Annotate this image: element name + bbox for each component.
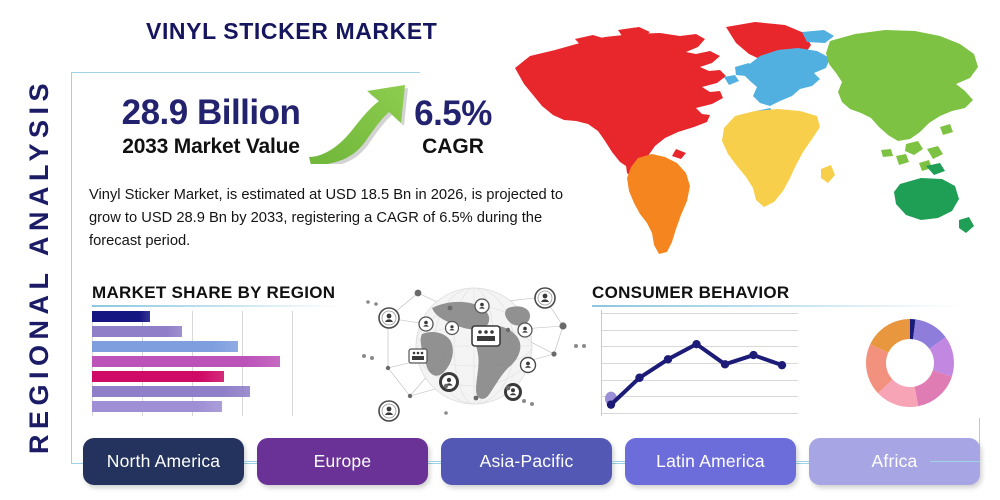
bar-fill: [92, 326, 182, 337]
consumer-behavior-heading: CONSUMER BEHAVIOR: [592, 283, 789, 303]
map-region-oceania: [894, 163, 974, 233]
chip-connector: [244, 461, 257, 462]
region-chip-label: Europe: [314, 451, 372, 472]
bar-chart-bar: [92, 386, 250, 397]
global-network-graphic: [358, 268, 590, 426]
bar-fill: [92, 371, 224, 382]
region-chip-row: North AmericaEuropeAsia-PacificLatin Ame…: [83, 438, 980, 485]
kpi-cagr-number: 6.5%: [398, 96, 508, 133]
bar-chart-bar: [92, 326, 182, 337]
map-region-asia: [826, 30, 978, 171]
consumer-behavior-heading-rule: [592, 305, 960, 307]
region-chip-label: Africa: [872, 451, 918, 472]
consumer-behavior-line-chart: [601, 310, 798, 416]
region-chip-label: Asia-Pacific: [480, 451, 574, 472]
chip-connector-tail: [930, 461, 980, 462]
page-title: VINYL STICKER MARKET: [146, 18, 437, 45]
chip-connector: [428, 461, 441, 462]
region-chip-north-america[interactable]: North America: [83, 438, 244, 485]
vertical-section-label: REGIONAL ANALYSIS: [17, 56, 61, 476]
bar-chart-bar: [92, 401, 222, 412]
kpi-cagr-caption: CAGR: [398, 135, 508, 159]
line-data-point: [635, 374, 643, 382]
market-share-heading-rule: [92, 305, 340, 307]
chip-connector: [796, 461, 809, 462]
bar-fill: [92, 401, 222, 412]
market-summary-text: Vinyl Sticker Market, is estimated at US…: [89, 184, 589, 253]
region-chip-label: Latin America: [656, 451, 765, 472]
bar-fill: [92, 356, 280, 367]
bar-gridline: [292, 311, 293, 416]
chip-connector: [612, 461, 625, 462]
bar-fill: [92, 311, 150, 322]
kpi-market-value: 28.9 Billion 2033 Market Value: [96, 95, 326, 159]
region-chip-asia-pacific[interactable]: Asia-Pacific: [441, 438, 612, 485]
market-share-bar-chart: [92, 311, 292, 416]
bar-chart-bar: [92, 356, 280, 367]
market-share-heading: MARKET SHARE BY REGION: [92, 283, 335, 303]
bar-fill: [92, 341, 238, 352]
bar-chart-bar: [92, 371, 224, 382]
bar-chart-bar: [92, 311, 150, 322]
map-region-africa: [722, 109, 835, 207]
line-data-point: [749, 351, 757, 359]
map-region-south-america: [627, 154, 690, 254]
kpi-value-number: 28.9 Billion: [96, 95, 326, 132]
region-chip-europe[interactable]: Europe: [257, 438, 428, 485]
line-data-point: [778, 361, 786, 369]
region-chip-latin-america[interactable]: Latin America: [625, 438, 796, 485]
infographic-root: REGIONAL ANALYSIS VINYL STICKER MARKET: [0, 0, 1000, 500]
bar-fill: [92, 386, 250, 397]
line-data-point: [664, 355, 672, 363]
line-data-point: [607, 400, 615, 408]
line-data-point: [721, 360, 729, 368]
donut-svg: [858, 311, 962, 415]
region-donut-chart: [858, 311, 962, 415]
line-chart-series: [601, 310, 798, 416]
kpi-cagr: 6.5% CAGR: [398, 96, 508, 159]
line-data-point: [692, 340, 700, 348]
region-chip-label: North America: [107, 451, 220, 472]
donut-segment: [914, 370, 951, 406]
kpi-value-caption: 2033 Market Value: [96, 135, 326, 159]
bar-chart-bar: [92, 341, 238, 352]
